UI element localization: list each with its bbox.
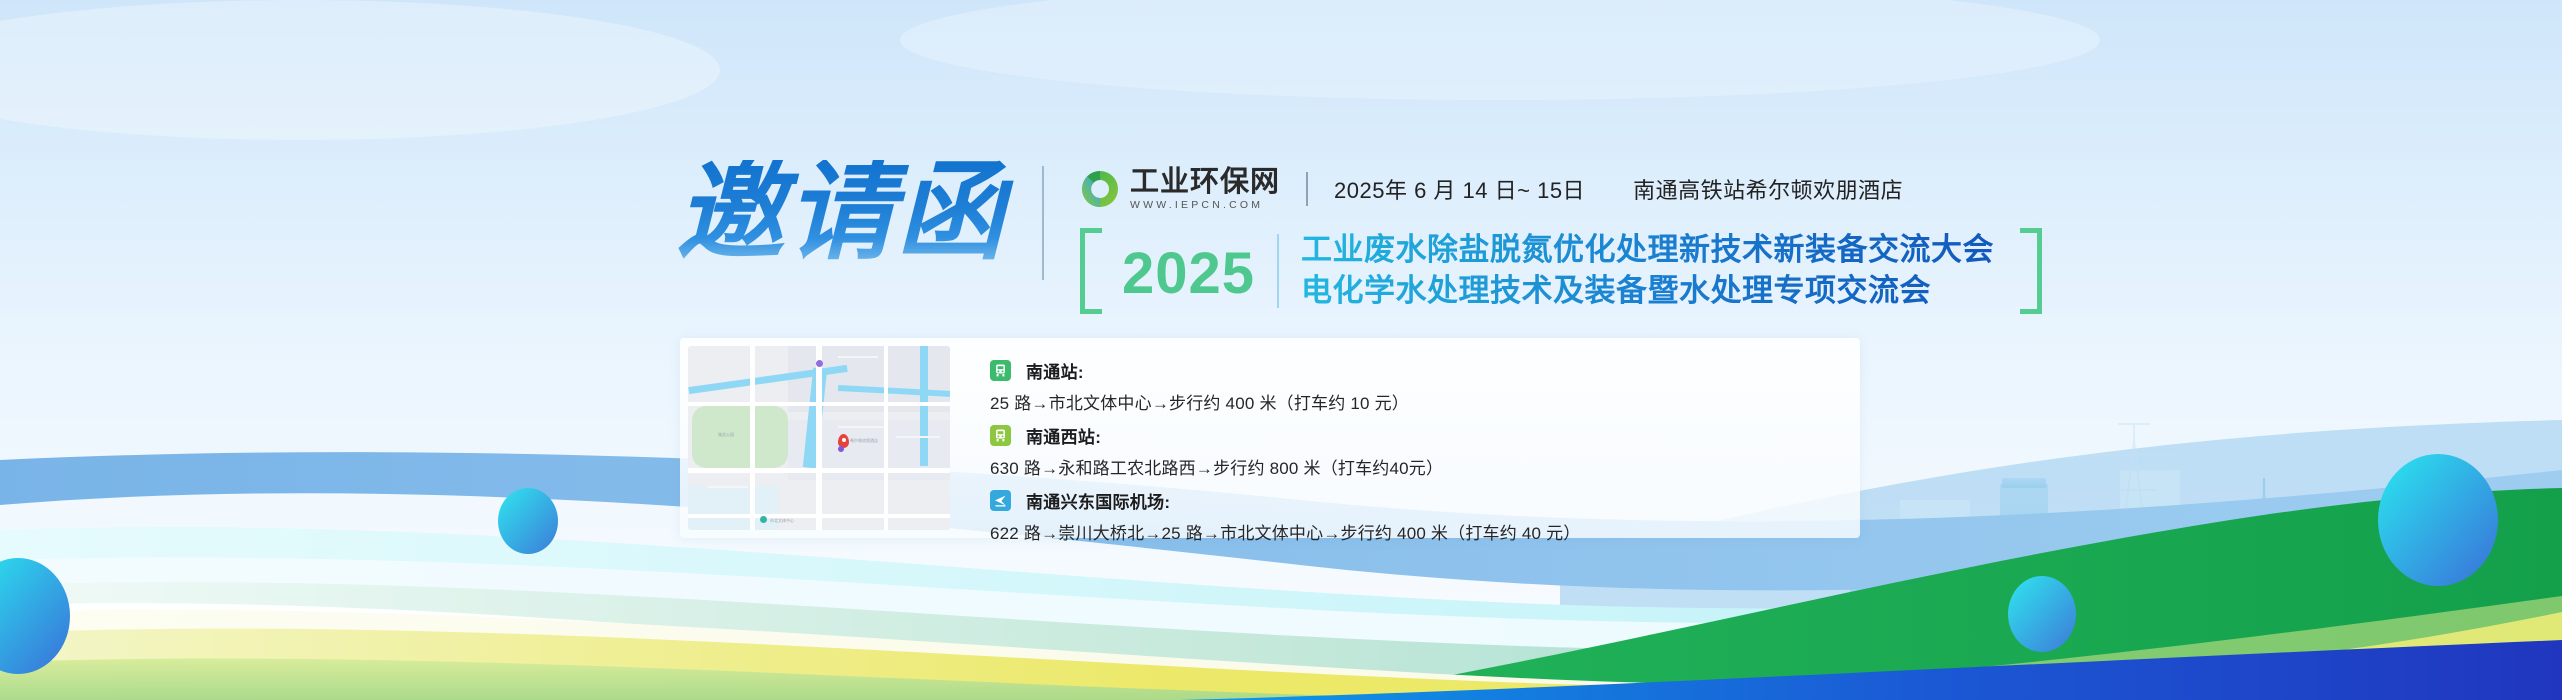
logo-name: 工业环保网: [1130, 167, 1280, 197]
meta-divider: [1306, 172, 1308, 206]
event-venue: 南通高铁站希尔顿欢朋酒店: [1633, 173, 1903, 205]
route-path: 25 路→市北文体中心→步行约 400 米（打车约 10 元）: [990, 389, 1860, 414]
logo-url: WWW.IEPCN.COM: [1130, 199, 1280, 211]
title-divider: [1042, 166, 1044, 280]
meta-row: 工业环保网 WWW.IEPCN.COM 2025年 6 月 14 日~ 15日 …: [1080, 166, 2042, 212]
train-icon: [990, 360, 1011, 381]
airplane-icon: [990, 490, 1011, 511]
list-item: 南通兴东国际机场: 622 路→崇川大桥北→25 路→市北文体中心→步行约 40…: [990, 488, 1860, 544]
route-list: 南通站: 25 路→市北文体中心→步行约 400 米（打车约 10 元） 南通西…: [960, 338, 1860, 538]
route-name: 南通西站:: [1026, 423, 1101, 448]
route-path: 630 路→永和路工农北路西→步行约 800 米（打车约40元）: [990, 454, 1860, 479]
year-badge: 2025: [1102, 235, 1277, 308]
route-path: 622 路→崇川大桥北→25 路→市北文体中心→步行约 400 米（打车约 40…: [990, 519, 1860, 544]
page-title: 邀请函: [676, 160, 1016, 268]
route-name: 南通站:: [1026, 358, 1084, 383]
bracket-right-icon: [2020, 228, 2042, 314]
conference-line-2: 电化学水处理技术及装备暨水处理专项交流会: [1301, 271, 1994, 312]
venue-map-thumbnail[interactable]: 希尔顿欢朋酒店 城北公园 市北文体中心: [688, 346, 950, 530]
list-item: 南通站: 25 路→市北文体中心→步行约 400 米（打车约 10 元）: [990, 358, 1860, 414]
transit-info-card: 希尔顿欢朋酒店 城北公园 市北文体中心 南通站: 25 路→市北文体中心→步行约…: [680, 338, 1860, 538]
conference-title-block: 2025 工业废水除盐脱氮优化处理新技术新装备交流大会 电化学水处理技术及装备暨…: [1080, 228, 2042, 314]
event-date: 2025年 6 月 14 日~ 15日: [1334, 173, 1585, 205]
invitation-banner: 邀请函: [0, 0, 2562, 700]
leaf-circle-logo-icon: [1080, 169, 1120, 209]
bracket-left-icon: [1080, 228, 1102, 314]
train-icon: [990, 425, 1011, 446]
headline-block: 邀请函: [676, 160, 2042, 314]
brand-logo[interactable]: 工业环保网 WWW.IEPCN.COM: [1080, 167, 1280, 211]
route-name: 南通兴东国际机场:: [1026, 488, 1170, 513]
conference-line-1: 工业废水除盐脱氮优化处理新技术新装备交流大会: [1301, 230, 1994, 271]
list-item: 南通西站: 630 路→永和路工农北路西→步行约 800 米（打车约40元）: [990, 423, 1860, 479]
